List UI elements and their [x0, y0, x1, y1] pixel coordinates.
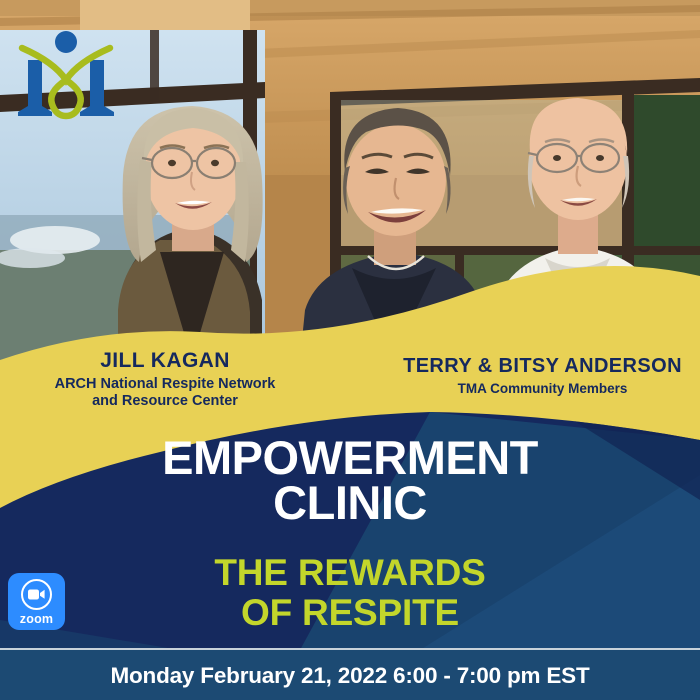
speaker-name: JILL KAGAN [0, 350, 330, 372]
speaker-org-line1: ARCH National Respite Network [0, 376, 330, 393]
speaker-name: TERRY & BITSY ANDERSON [385, 356, 700, 377]
speaker-org: ARCH National Respite Network and Resour… [0, 376, 330, 409]
speaker-org-line2: and Resource Center [0, 393, 330, 410]
event-subtitle: THE REWARDS OF RESPITE [0, 553, 700, 633]
speaker-org-line1: TMA Community Members [385, 381, 700, 397]
video-camera-icon [28, 589, 45, 600]
event-title: EMPOWERMENT CLINIC [0, 436, 700, 525]
zoom-camera-circle [21, 579, 52, 610]
speaker-block-right: TERRY & BITSY ANDERSON TMA Community Mem… [385, 356, 700, 397]
zoom-label: zoom [20, 612, 53, 626]
event-datetime-bar: Monday February 21, 2022 6:00 - 7:00 pm … [0, 648, 700, 700]
event-poster: JILL KAGAN ARCH National Respite Network… [0, 0, 700, 700]
event-subtitle-line2: OF RESPITE [0, 593, 700, 633]
event-datetime: Monday February 21, 2022 6:00 - 7:00 pm … [110, 663, 589, 689]
zoom-badge[interactable]: zoom [8, 573, 65, 630]
arch-respite-logo [14, 22, 118, 128]
speaker-org: TMA Community Members [385, 381, 700, 397]
event-subtitle-line1: THE REWARDS [0, 553, 700, 593]
event-title-line2: CLINIC [0, 481, 700, 526]
event-title-line1: EMPOWERMENT [0, 436, 700, 481]
speaker-block-left: JILL KAGAN ARCH National Respite Network… [0, 350, 330, 409]
title-block: EMPOWERMENT CLINIC THE REWARDS OF RESPIT… [0, 436, 700, 633]
